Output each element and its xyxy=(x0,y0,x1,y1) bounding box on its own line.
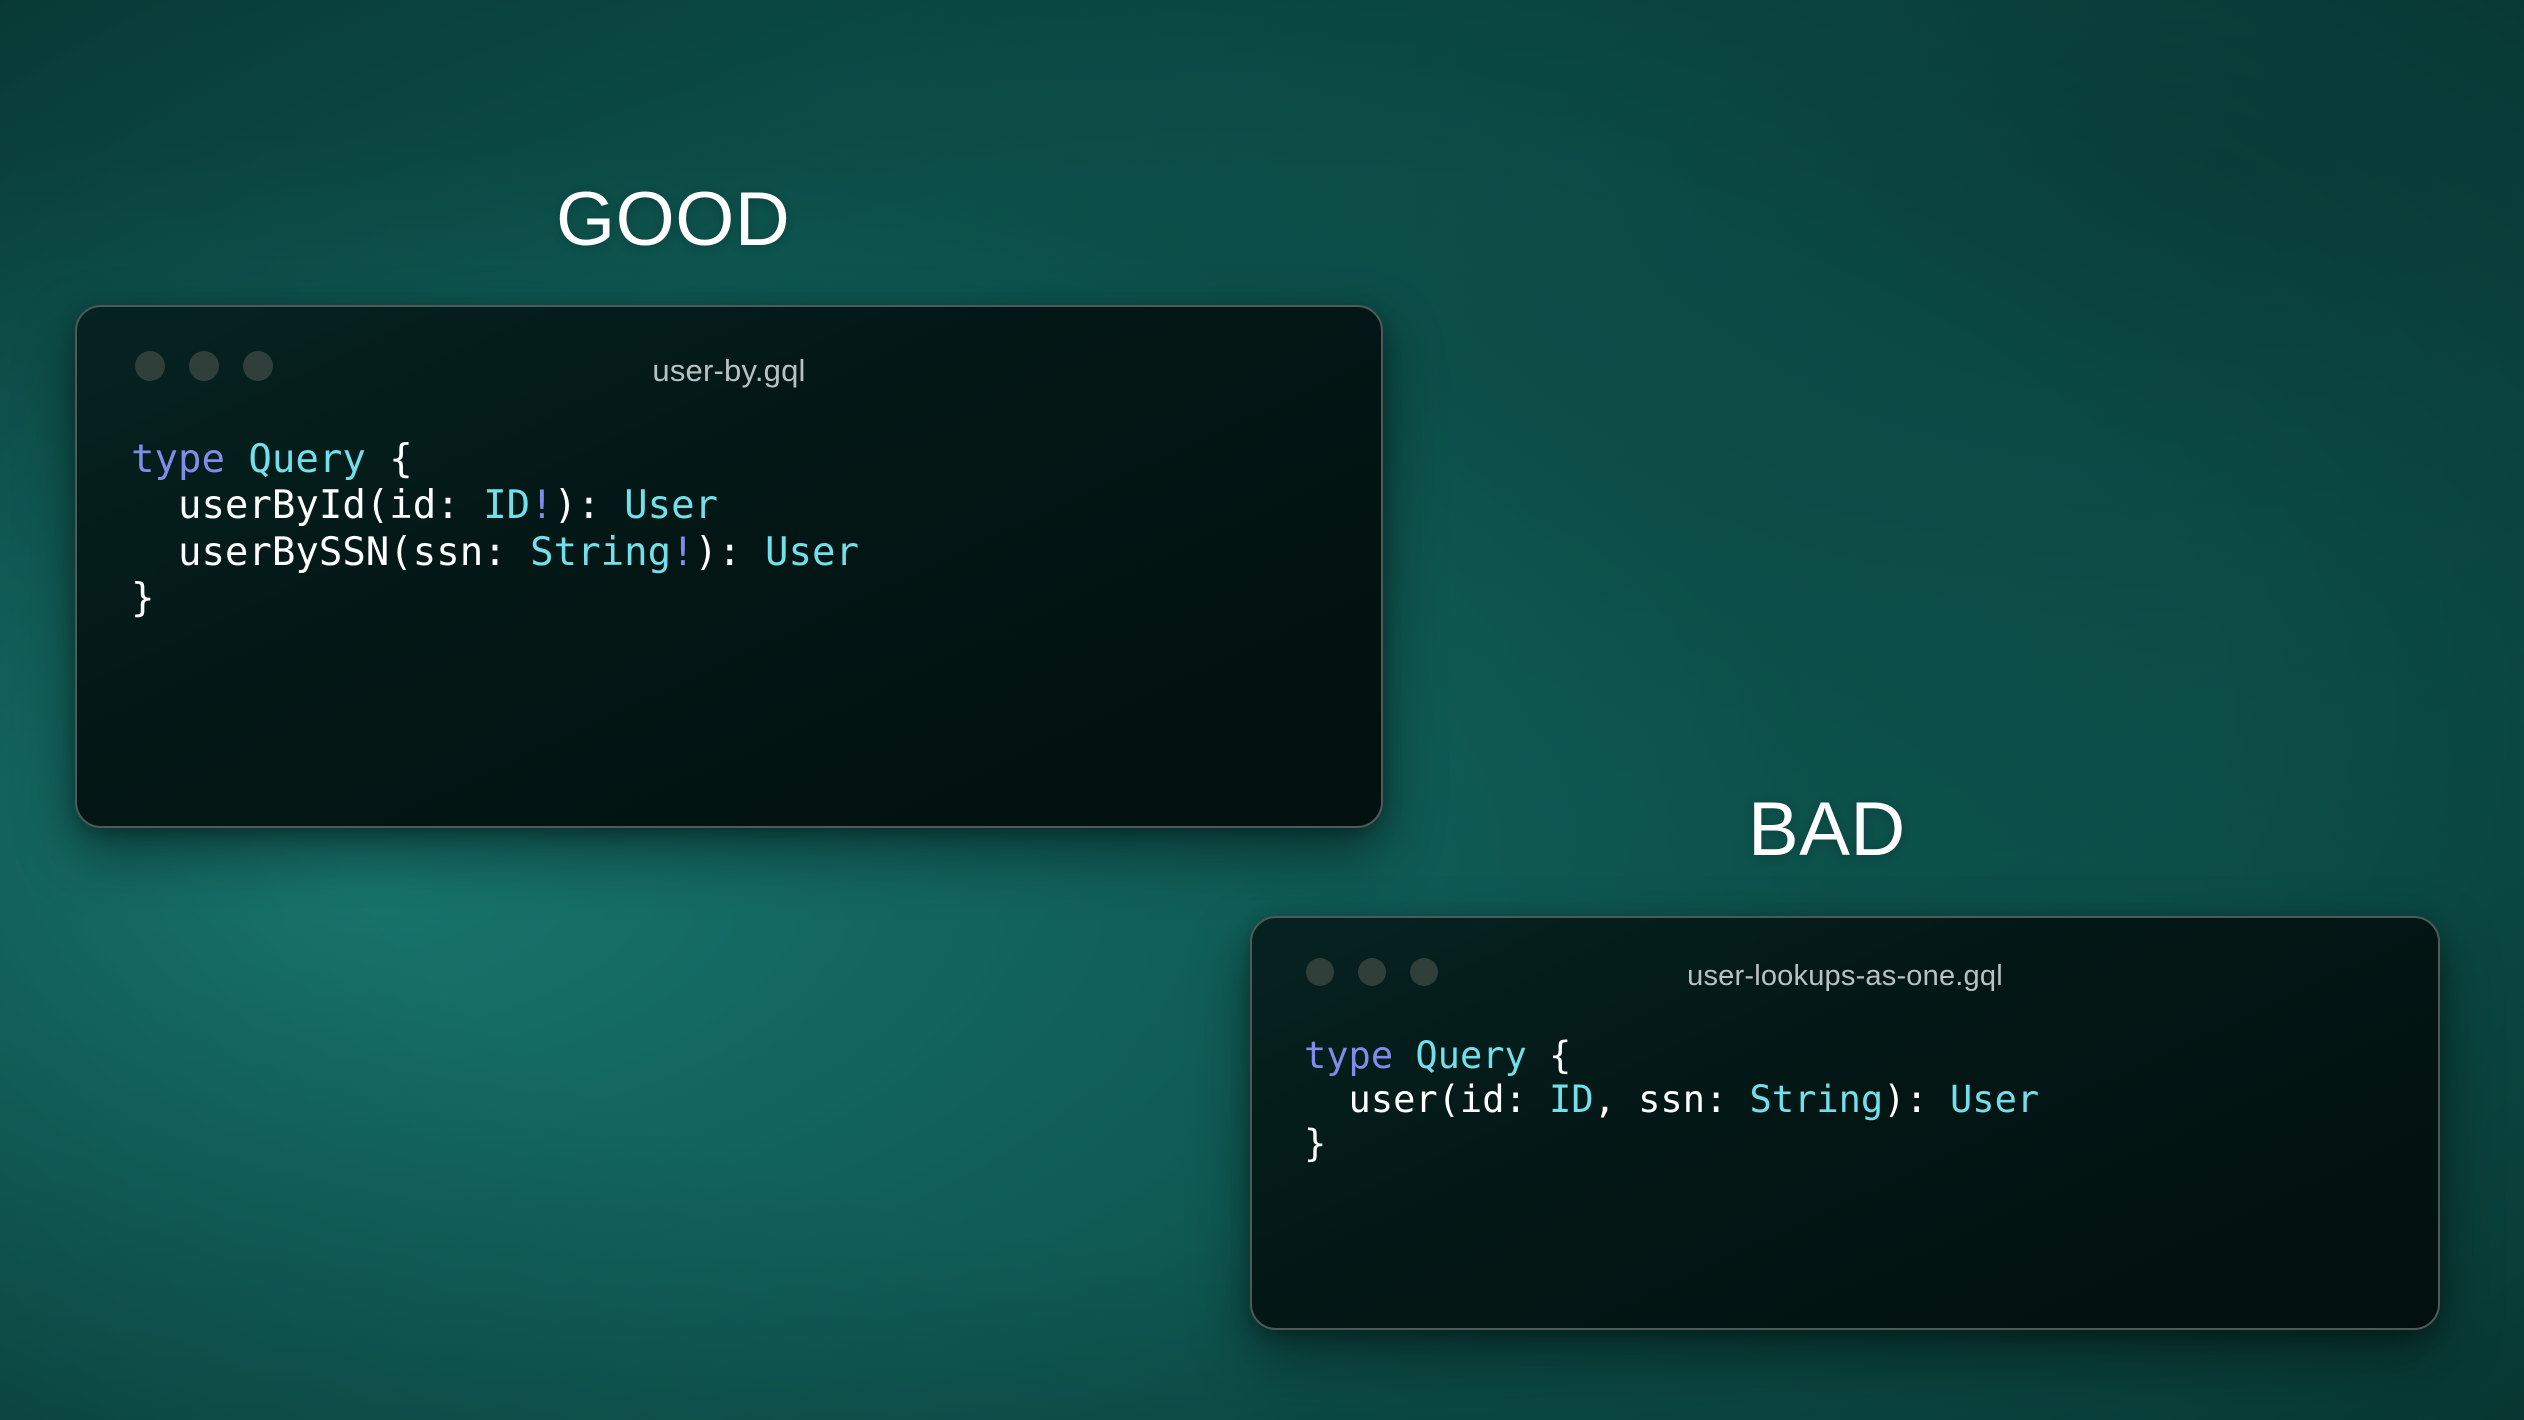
code-token-type: Query xyxy=(248,437,365,482)
code-window-good[interactable]: user-by.gql type Query { userById(id: ID… xyxy=(75,305,1383,828)
window-title-bad: user-lookups-as-one.gql xyxy=(1252,960,2438,993)
code-token-plain xyxy=(225,437,248,482)
code-line: type Query { xyxy=(1304,1034,2438,1078)
code-token-plain: userBySSN(ssn: xyxy=(131,530,530,575)
code-token-plain: ): xyxy=(554,483,624,528)
code-token-plain: { xyxy=(366,437,413,482)
code-token-bang: ! xyxy=(671,530,694,575)
code-line: type Query { xyxy=(131,437,1381,483)
code-line: user(id: ID, ssn: String): User xyxy=(1304,1078,2438,1122)
code-content-good[interactable]: type Query { userById(id: ID!): User use… xyxy=(77,403,1381,623)
code-content-bad[interactable]: type Query { user(id: ID, ssn: String): … xyxy=(1252,1006,2438,1166)
code-token-plain xyxy=(1393,1034,1415,1077)
titlebar-bad: user-lookups-as-one.gql xyxy=(1252,918,2438,1006)
code-token-keyword: type xyxy=(131,437,225,482)
window-title-good: user-by.gql xyxy=(77,353,1381,389)
code-line: userBySSN(ssn: String!): User xyxy=(131,530,1381,576)
code-token-bang: ! xyxy=(530,483,553,528)
code-token-plain: } xyxy=(131,576,154,621)
code-token-plain: ): xyxy=(695,530,765,575)
code-line: userById(id: ID!): User xyxy=(131,483,1381,529)
code-token-plain: { xyxy=(1527,1034,1572,1077)
good-label: GOOD xyxy=(556,182,790,258)
code-window-bad[interactable]: user-lookups-as-one.gql type Query { use… xyxy=(1250,916,2440,1330)
code-line: } xyxy=(1304,1122,2438,1166)
code-token-type: User xyxy=(1950,1078,2039,1121)
code-token-type: ID xyxy=(483,483,530,528)
code-token-type: String xyxy=(530,530,671,575)
code-token-type: String xyxy=(1750,1078,1884,1121)
code-token-plain: ): xyxy=(1883,1078,1950,1121)
code-token-type: Query xyxy=(1415,1034,1526,1077)
code-token-type: User xyxy=(765,530,859,575)
code-token-keyword: type xyxy=(1304,1034,1393,1077)
titlebar-good: user-by.gql xyxy=(77,307,1381,403)
code-token-plain: userById(id: xyxy=(131,483,483,528)
bad-label: BAD xyxy=(1748,792,1906,868)
code-token-plain: } xyxy=(1304,1122,1326,1165)
code-token-type: User xyxy=(624,483,718,528)
code-token-type: ID xyxy=(1549,1078,1594,1121)
code-token-plain: , ssn: xyxy=(1594,1078,1750,1121)
code-line: } xyxy=(131,576,1381,622)
code-token-plain: user(id: xyxy=(1304,1078,1549,1121)
